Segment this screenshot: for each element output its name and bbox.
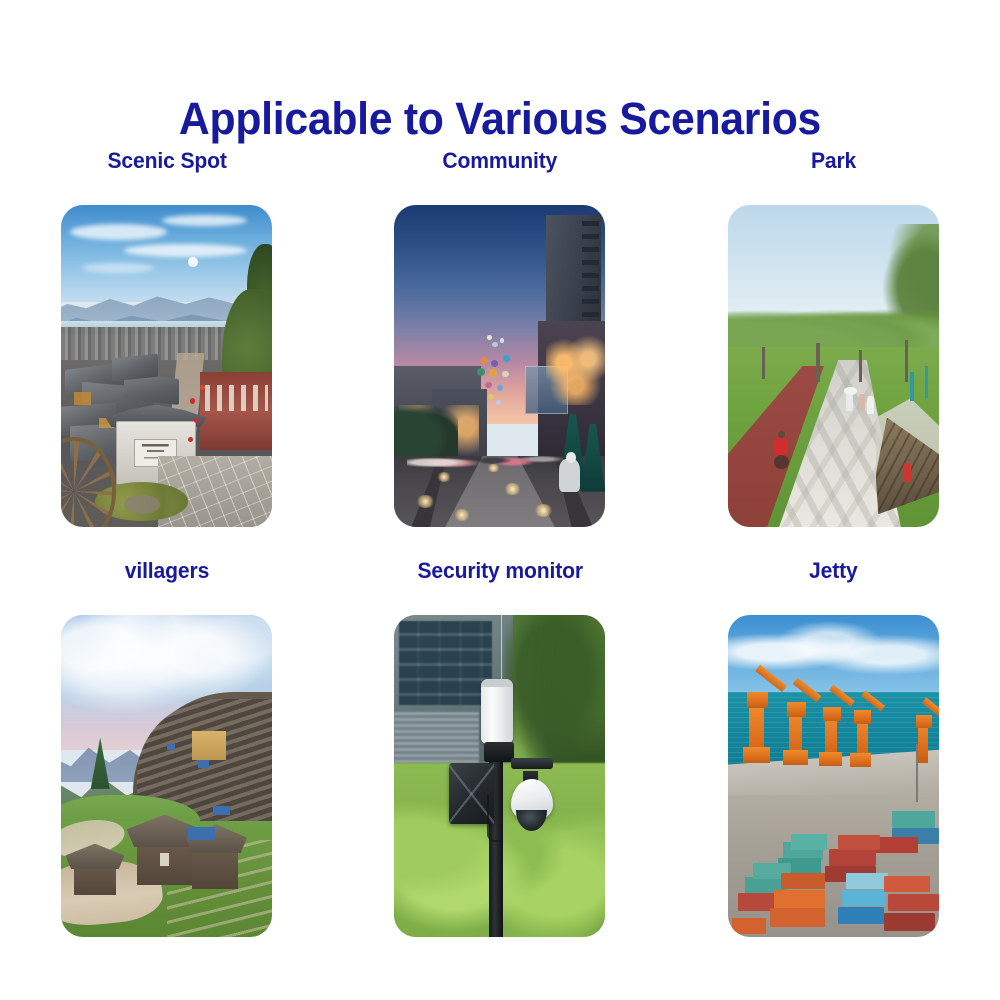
scenario-label-scenic-spot: Scenic Spot [107, 150, 226, 176]
scenario-card-villagers[interactable]: villagers [0, 560, 333, 970]
scenario-image-villagers[interactable] [61, 615, 272, 937]
scenario-card-jetty[interactable]: Jetty [667, 560, 1000, 970]
scenario-image-scenic-spot[interactable] [61, 205, 272, 527]
scenario-label-jetty: Jetty [809, 560, 858, 586]
scenario-label-park: Park [811, 150, 856, 176]
page-title: Applicable to Various Scenarios [25, 94, 975, 144]
scenario-card-park[interactable]: Park [667, 150, 1000, 560]
antenna-icon [481, 679, 513, 743]
scenario-grid: Scenic Spot [0, 150, 1000, 970]
scenario-image-park[interactable] [728, 205, 939, 527]
scenario-label-community: Community [443, 150, 558, 176]
antenna-mast-icon [501, 615, 502, 686]
scenario-image-community[interactable] [394, 205, 605, 527]
scenario-image-jetty[interactable] [728, 615, 939, 937]
scenario-image-security-monitor[interactable] [394, 615, 605, 937]
scenario-card-community[interactable]: Community [333, 150, 666, 560]
scenarios-page: Applicable to Various Scenarios Scenic S… [0, 0, 1000, 1000]
scenario-card-security-monitor[interactable]: Security monitor [333, 560, 666, 970]
scenario-label-security-monitor: Security monitor [417, 560, 583, 586]
scenario-label-villagers: villagers [124, 560, 208, 586]
scenario-card-scenic-spot[interactable]: Scenic Spot [0, 150, 333, 560]
